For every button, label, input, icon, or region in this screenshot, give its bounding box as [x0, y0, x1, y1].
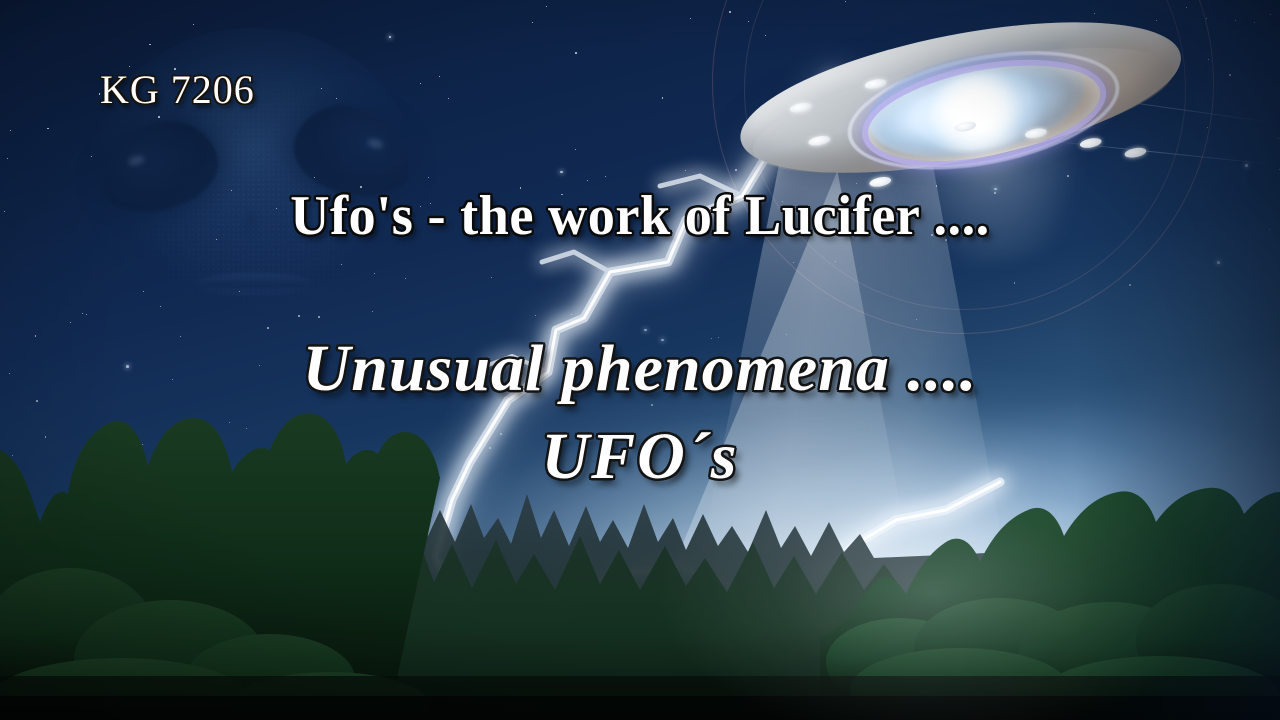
subtitle-line-2: UFO´s	[0, 419, 1280, 495]
text-layer: KG 7206 Ufo's - the work of Lucifer ....…	[0, 0, 1280, 720]
kg-code-label: KG 7206	[100, 66, 255, 113]
page-title: Ufo's - the work of Lucifer ....	[19, 184, 1261, 248]
slide-canvas: KG 7206 Ufo's - the work of Lucifer ....…	[0, 0, 1280, 720]
subtitle-line-1: Unusual phenomena ....	[0, 331, 1280, 407]
